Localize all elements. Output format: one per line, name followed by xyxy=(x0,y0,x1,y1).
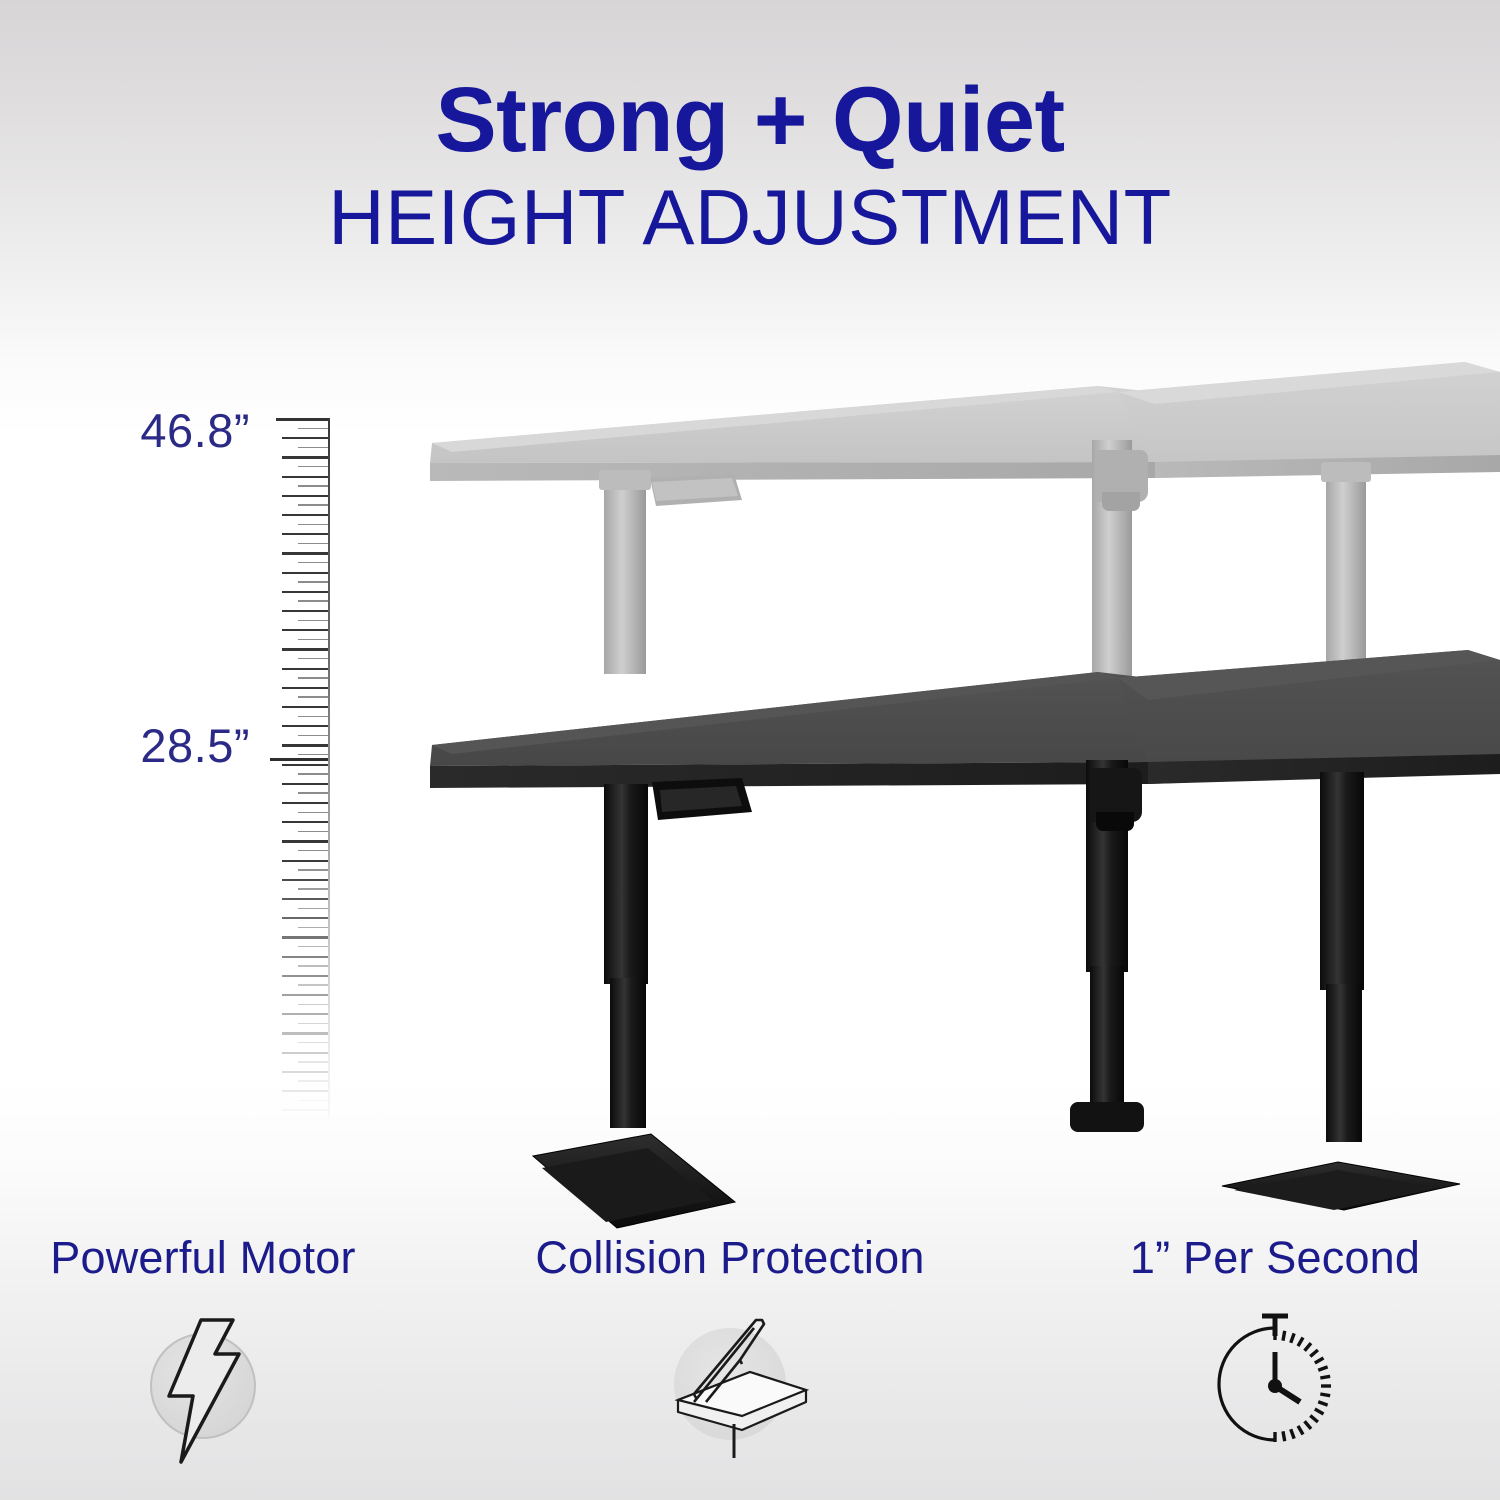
ruler-spine xyxy=(328,418,330,1118)
height-max-label: 46.8” xyxy=(20,403,250,458)
feature-powerful-motor: Powerful Motor xyxy=(0,1232,418,1476)
vertical-ruler xyxy=(268,418,330,1133)
raised-desk xyxy=(430,362,1500,680)
lightning-bolt-icon xyxy=(0,1306,418,1476)
feature-label: Powerful Motor xyxy=(0,1232,418,1284)
desk-collision-icon xyxy=(515,1306,945,1476)
clock-icon xyxy=(1060,1306,1490,1476)
ruler-tick-min xyxy=(270,758,328,761)
feature-collision-protection: Collision Protection xyxy=(515,1232,945,1476)
infographic-canvas: Strong + Quiet HEIGHT ADJUSTMENT xyxy=(0,0,1500,1500)
feature-speed: 1” Per Second xyxy=(1060,1232,1490,1476)
ruler-ticks xyxy=(268,418,328,1133)
leg-right xyxy=(1222,772,1460,1210)
leg-left xyxy=(533,784,735,1228)
height-min-label: 28.5” xyxy=(20,718,250,773)
lowered-desk xyxy=(430,650,1500,1228)
feature-label: 1” Per Second xyxy=(1060,1232,1490,1284)
leg-corner xyxy=(1070,760,1144,1132)
feature-label: Collision Protection xyxy=(515,1232,945,1284)
ruler-tick-max xyxy=(276,418,328,421)
